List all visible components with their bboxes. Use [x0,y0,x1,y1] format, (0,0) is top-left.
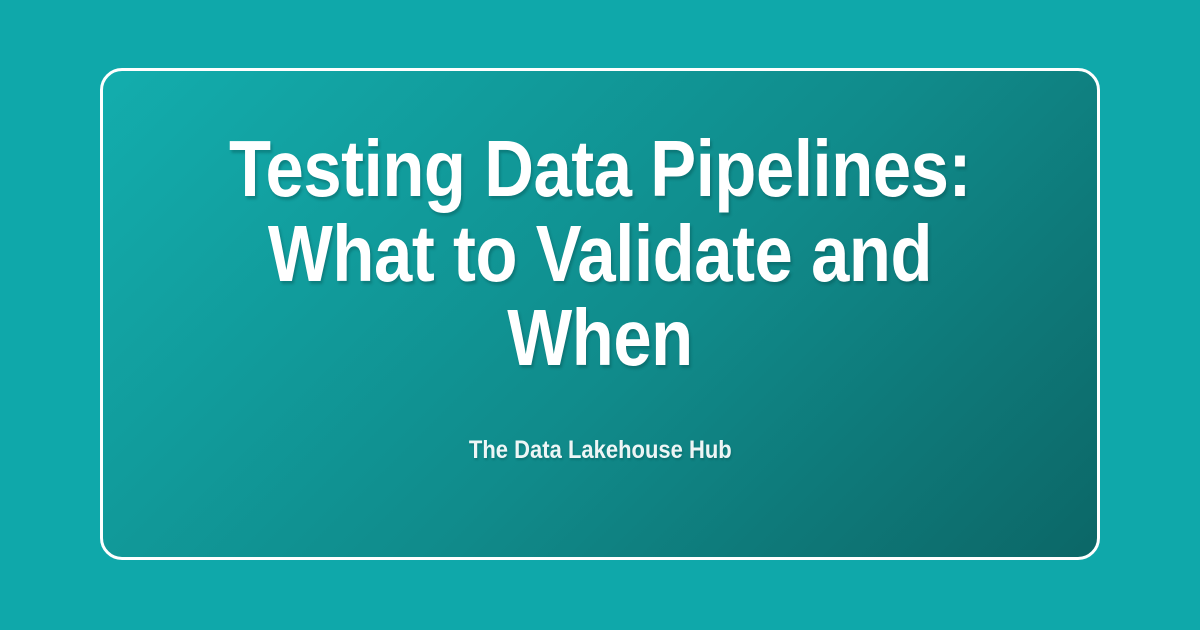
page-title-line-1: Testing Data Pipelines: [207,127,993,212]
og-image-canvas: Testing Data Pipelines: What to Validate… [0,0,1200,630]
card-content-stack: Testing Data Pipelines: What to Validate… [103,127,1097,465]
content-card: Testing Data Pipelines: What to Validate… [100,68,1100,560]
site-name-subtitle-text: The Data Lakehouse Hub [469,435,732,465]
page-title-line-2: What to Validate and When [207,212,993,382]
site-name-subtitle: The Data Lakehouse Hub [143,435,1057,465]
page-title: Testing Data Pipelines: What to Validate… [143,127,1057,381]
